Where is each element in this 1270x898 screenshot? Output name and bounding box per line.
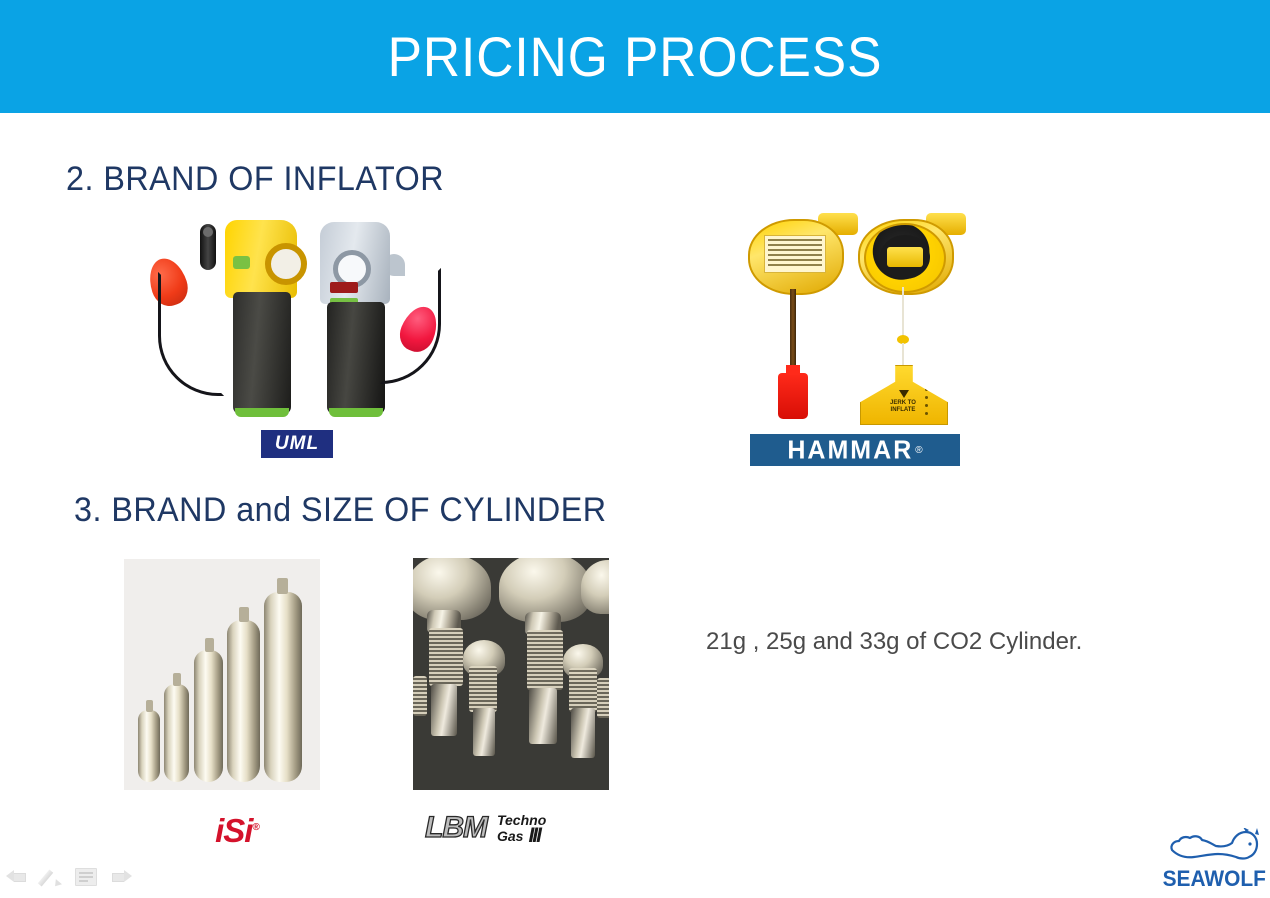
co2-cylinder-neck-4 bbox=[239, 607, 249, 622]
grey-inflator-body bbox=[327, 302, 385, 414]
uml-brand-badge: UML bbox=[261, 430, 333, 458]
cylinder-stub-4 bbox=[571, 708, 595, 758]
seawolf-brand-label: SEAWOLF bbox=[1163, 866, 1262, 892]
page-title: PRICING PROCESS bbox=[51, 0, 1219, 113]
cylinder-thread-3 bbox=[469, 666, 497, 712]
inflator-clip-icon bbox=[200, 224, 216, 270]
hru-right-disc bbox=[864, 223, 946, 293]
hru-right-disc-inner bbox=[880, 235, 930, 279]
lbm-sub-label-gas: Gas bbox=[497, 829, 523, 844]
hru-jerk-to-inflate-tag: JERK TOINFLATE bbox=[860, 365, 948, 425]
cylinder-thread-4 bbox=[569, 668, 597, 712]
co2-cylinder-size-4 bbox=[227, 620, 260, 782]
cylinder-stub-2 bbox=[473, 708, 495, 756]
next-slide-icon[interactable] bbox=[111, 868, 132, 890]
hru-jerk-holes bbox=[925, 372, 929, 420]
cylinder-thread-1 bbox=[429, 628, 463, 686]
hammar-hydrostatic-release-photo: JERK TOINFLATE bbox=[740, 205, 970, 430]
cylinder-stub-1 bbox=[431, 684, 457, 736]
co2-cylinder-size-3 bbox=[194, 650, 223, 782]
grey-inflator-base bbox=[329, 408, 383, 417]
co2-cylinder-size-2 bbox=[164, 684, 189, 782]
yellow-inflator-window bbox=[265, 243, 307, 285]
cylinder-weights-note: 21g , 25g and 33g of CO2 Cylinder. bbox=[706, 628, 1082, 656]
cylinder-thread-6 bbox=[597, 678, 609, 718]
grey-inflator-red-indicator bbox=[330, 282, 358, 293]
cylinder-dome-3 bbox=[581, 560, 609, 614]
hru-left-red-tab bbox=[778, 373, 808, 419]
co2-cylinders-sizes-photo bbox=[124, 559, 320, 790]
cylinder-stub-3 bbox=[529, 688, 557, 744]
isi-brand-label: iSi bbox=[215, 812, 252, 849]
cylinder-thread-2 bbox=[527, 630, 563, 690]
hammar-registered-mark: ® bbox=[915, 445, 922, 456]
isi-registered-mark: ® bbox=[252, 822, 258, 833]
hammar-brand-badge: HAMMAR® bbox=[750, 434, 960, 466]
section-heading-brand-and-size-of-cylinder: 3. BRAND and SIZE OF CYLINDER bbox=[74, 491, 607, 530]
co2-cylinder-neck-1 bbox=[146, 700, 153, 712]
co2-cylinder-size-1 bbox=[138, 710, 160, 782]
seawolf-brand-logo: SEAWOLF bbox=[1160, 828, 1264, 890]
cylinder-thread-5 bbox=[413, 676, 427, 716]
seawolf-wolf-icon bbox=[1160, 828, 1264, 868]
uml-inflators-photo bbox=[140, 210, 450, 425]
yellow-inflator-base bbox=[235, 408, 289, 417]
co2-cylinder-neck-3 bbox=[205, 638, 214, 652]
hru-right-cord-upper bbox=[902, 287, 904, 337]
lbm-brand-logo: LBM Techno Gas III bbox=[425, 808, 615, 848]
hru-jerk-tag-text: JERK TOINFLATE bbox=[877, 400, 929, 414]
hru-left-label bbox=[764, 235, 826, 273]
co2-cylinder-size-5 bbox=[264, 592, 302, 782]
lbm-brand-label: LBM bbox=[425, 812, 487, 844]
yellow-inflator-body bbox=[233, 292, 291, 414]
section-heading-brand-of-inflator: 2. BRAND OF INFLATOR bbox=[66, 160, 444, 199]
previous-slide-icon[interactable] bbox=[6, 868, 27, 890]
hru-jerk-arrow-icon bbox=[899, 390, 909, 398]
lbm-sub-label-bars: III bbox=[528, 828, 540, 844]
co2-cylinder-necks-photo bbox=[413, 558, 609, 790]
hammar-brand-label: HAMMAR bbox=[787, 435, 913, 465]
co2-cylinder-neck-5 bbox=[277, 578, 288, 594]
lanyard-cord-left bbox=[158, 272, 224, 396]
isi-brand-logo: iSi® bbox=[197, 810, 277, 846]
menu-icon[interactable] bbox=[75, 868, 97, 890]
co2-cylinder-neck-2 bbox=[173, 673, 181, 686]
pen-annotate-icon[interactable] bbox=[41, 868, 61, 890]
hru-right-cord-lower bbox=[902, 343, 904, 367]
slideshow-toolbar[interactable] bbox=[6, 866, 132, 892]
yellow-inflator-green-indicator bbox=[233, 256, 250, 269]
